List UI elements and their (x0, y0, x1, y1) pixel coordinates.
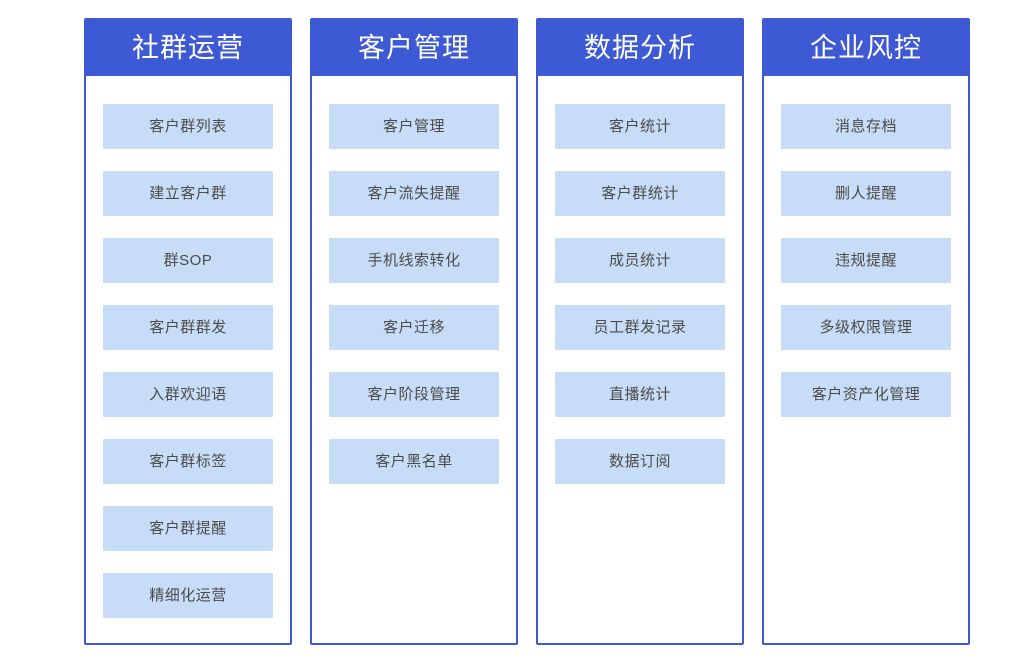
feature-card-community-operations: 社群运营 客户群列表 建立客户群 群SOP 客户群群发 入群欢迎语 客户群标签 … (84, 18, 292, 645)
feature-item[interactable]: 客户群群发 (103, 305, 273, 350)
feature-item[interactable]: 客户黑名单 (329, 439, 499, 484)
feature-item[interactable]: 客户管理 (329, 104, 499, 149)
feature-item[interactable]: 消息存档 (781, 104, 951, 149)
feature-item[interactable]: 建立客户群 (103, 171, 273, 216)
feature-item[interactable]: 手机线索转化 (329, 238, 499, 283)
feature-item[interactable]: 删人提醒 (781, 171, 951, 216)
feature-card-enterprise-risk-control: 企业风控 消息存档 删人提醒 违规提醒 多级权限管理 客户资产化管理 (762, 18, 970, 645)
card-spacer (329, 506, 499, 633)
card-body-customer-management: 客户管理 客户流失提醒 手机线索转化 客户迁移 客户阶段管理 客户黑名单 (312, 76, 516, 643)
feature-item[interactable]: 入群欢迎语 (103, 372, 273, 417)
feature-item[interactable]: 员工群发记录 (555, 305, 725, 350)
feature-item[interactable]: 客户群标签 (103, 439, 273, 484)
feature-item[interactable]: 违规提醒 (781, 238, 951, 283)
feature-item[interactable]: 成员统计 (555, 238, 725, 283)
card-body-community-operations: 客户群列表 建立客户群 群SOP 客户群群发 入群欢迎语 客户群标签 客户群提醒… (86, 76, 290, 643)
feature-card-customer-management: 客户管理 客户管理 客户流失提醒 手机线索转化 客户迁移 客户阶段管理 客户黑名… (310, 18, 518, 645)
card-body-enterprise-risk-control: 消息存档 删人提醒 违规提醒 多级权限管理 客户资产化管理 (764, 76, 968, 643)
feature-item[interactable]: 群SOP (103, 238, 273, 283)
feature-item[interactable]: 客户流失提醒 (329, 171, 499, 216)
feature-item[interactable]: 客户群统计 (555, 171, 725, 216)
feature-item[interactable]: 客户群提醒 (103, 506, 273, 551)
feature-item[interactable]: 数据订阅 (555, 439, 725, 484)
card-spacer (781, 439, 951, 633)
card-body-data-analysis: 客户统计 客户群统计 成员统计 员工群发记录 直播统计 数据订阅 (538, 76, 742, 643)
feature-item[interactable]: 客户迁移 (329, 305, 499, 350)
card-title-community-operations: 社群运营 (86, 20, 290, 76)
feature-item[interactable]: 客户统计 (555, 104, 725, 149)
feature-item[interactable]: 精细化运营 (103, 573, 273, 618)
feature-item[interactable]: 直播统计 (555, 372, 725, 417)
feature-columns: 社群运营 客户群列表 建立客户群 群SOP 客户群群发 入群欢迎语 客户群标签 … (0, 18, 1023, 645)
feature-item[interactable]: 客户群列表 (103, 104, 273, 149)
feature-board: 社群运营 客户群列表 建立客户群 群SOP 客户群群发 入群欢迎语 客户群标签 … (0, 0, 1023, 669)
feature-card-data-analysis: 数据分析 客户统计 客户群统计 成员统计 员工群发记录 直播统计 数据订阅 (536, 18, 744, 645)
feature-item[interactable]: 客户阶段管理 (329, 372, 499, 417)
card-title-enterprise-risk-control: 企业风控 (764, 20, 968, 76)
card-title-customer-management: 客户管理 (312, 20, 516, 76)
feature-item[interactable]: 多级权限管理 (781, 305, 951, 350)
card-title-data-analysis: 数据分析 (538, 20, 742, 76)
feature-item[interactable]: 客户资产化管理 (781, 372, 951, 417)
card-spacer (555, 506, 725, 633)
